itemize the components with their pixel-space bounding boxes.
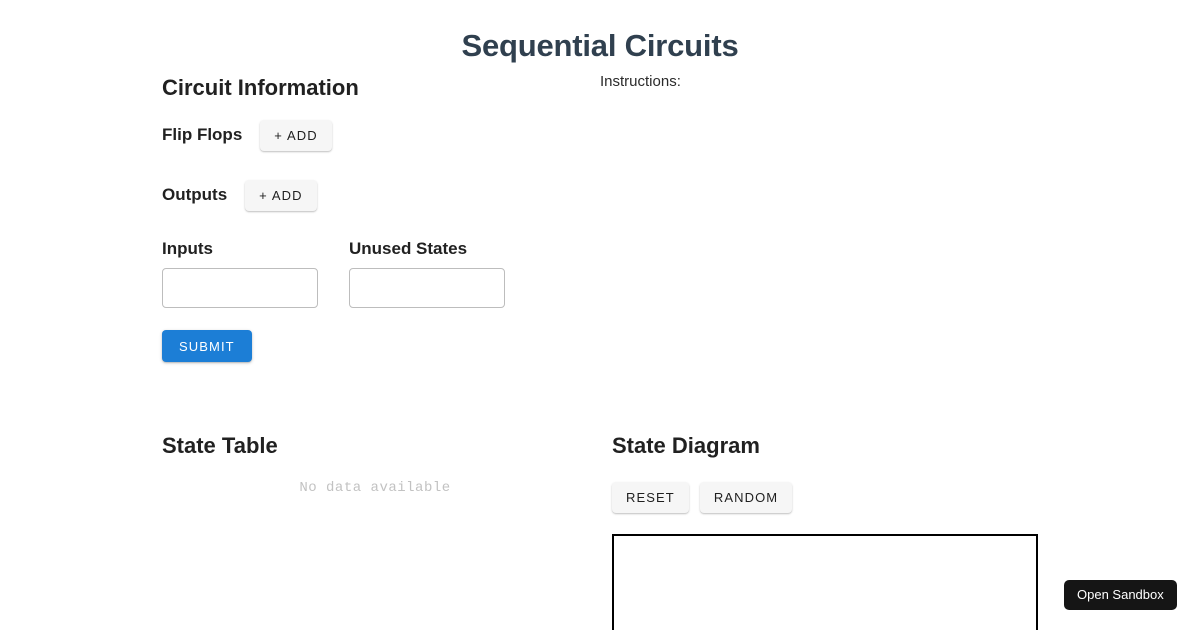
circuit-information-heading: Circuit Information [162, 74, 359, 102]
reset-button[interactable]: RESET [612, 482, 689, 513]
state-diagram-canvas[interactable] [612, 534, 1038, 630]
unused-states-input[interactable] [349, 268, 505, 308]
random-button[interactable]: RANDOM [700, 482, 792, 513]
add-flip-flop-button[interactable]: + ADD [260, 120, 331, 151]
open-sandbox-button[interactable]: Open Sandbox [1064, 580, 1177, 610]
page-title: Sequential Circuits [0, 28, 1200, 64]
outputs-label: Outputs [162, 185, 227, 205]
state-diagram-heading: State Diagram [612, 432, 760, 460]
unused-states-label: Unused States [349, 238, 505, 260]
app-root: Sequential Circuits Circuit Information … [0, 0, 1200, 630]
instructions-label: Instructions: [600, 72, 1160, 92]
state-table-heading: State Table [162, 432, 278, 460]
inputs-input[interactable] [162, 268, 318, 308]
submit-button[interactable]: SUBMIT [162, 330, 252, 362]
unused-states-group: Unused States [349, 238, 505, 308]
state-diagram-controls: RESET RANDOM [612, 482, 792, 513]
flip-flops-label: Flip Flops [162, 125, 242, 145]
inputs-group: Inputs [162, 238, 318, 308]
state-table-empty-message: No data available [162, 479, 588, 497]
inputs-label: Inputs [162, 238, 318, 260]
outputs-row: Outputs + ADD [162, 178, 317, 212]
add-output-button[interactable]: + ADD [245, 180, 316, 211]
flip-flops-row: Flip Flops + ADD [162, 118, 332, 152]
instructions-block: Instructions: [600, 72, 1160, 92]
